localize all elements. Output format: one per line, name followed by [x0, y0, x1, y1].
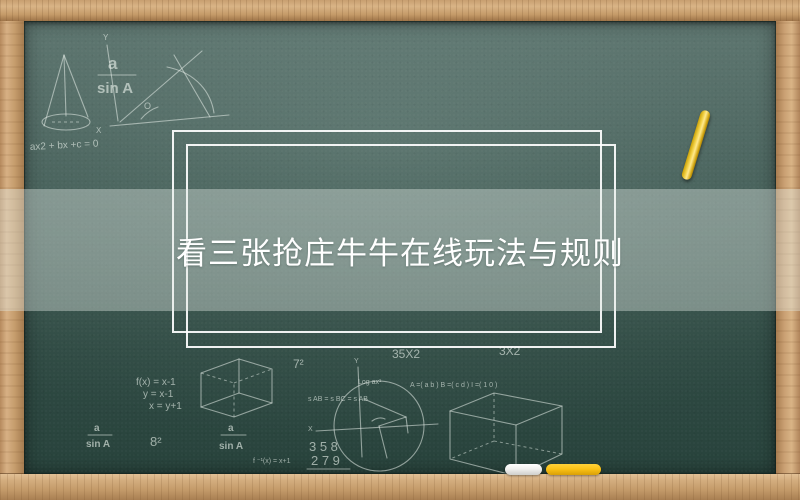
frame-rail-bottom-grain [0, 474, 800, 500]
chalkboard-banner: a sin A ax2 + bx +c = 0 Y X O [0, 0, 800, 500]
yellow-chalk-icon [546, 464, 601, 475]
frame-rail-top-grain [0, 0, 800, 21]
frame-rail-top [0, 0, 800, 21]
frame-rail-bottom-ledge [0, 474, 800, 500]
white-chalk-icon [505, 464, 542, 475]
page-title: 看三张抢庄牛牛在线玩法与规则 [0, 189, 800, 311]
